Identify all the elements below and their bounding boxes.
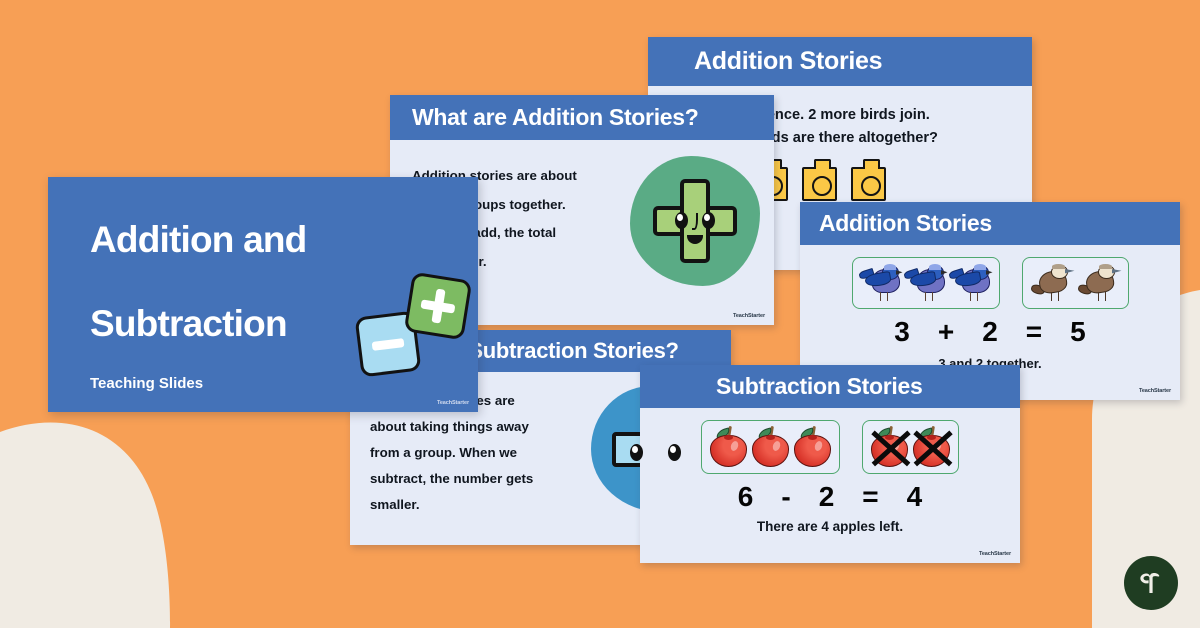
watermark: TeachStarter xyxy=(437,400,469,406)
group-box-addend-2 xyxy=(1022,257,1129,309)
apple-crossed-out-icon xyxy=(869,426,910,468)
cap xyxy=(884,264,896,270)
apple-crossed-out-icon xyxy=(911,426,952,468)
cap xyxy=(929,264,941,270)
body-line: subtract, the number gets xyxy=(370,466,587,492)
counter-icon xyxy=(851,167,886,201)
slide-header-bar: What are Addition Stories? xyxy=(390,95,774,140)
body-line: smaller. xyxy=(370,492,587,518)
equation-row: 6 - 2 = 4 xyxy=(640,481,1020,513)
slide-heading: Addition Stories xyxy=(694,47,882,76)
equation-row: 3 + 2 = 5 xyxy=(800,316,1180,348)
watermark: TeachStarter xyxy=(1139,388,1171,394)
slide-header-bar: Addition Stories xyxy=(800,202,1180,245)
slide-title-cover[interactable]: Addition and Subtraction Teaching Slides… xyxy=(48,177,478,412)
slide-header-bar: Addition Stories xyxy=(648,37,1032,86)
bluebird-icon xyxy=(949,263,993,303)
equation-term: 2 xyxy=(982,316,998,348)
slide-header-bar: Subtraction Stories xyxy=(640,365,1020,408)
beak xyxy=(896,270,903,275)
kookaburra-icon xyxy=(1076,263,1122,303)
bird-groups xyxy=(800,257,1180,309)
group-box-remaining xyxy=(701,420,840,474)
slide-subtraction-stories-apples[interactable]: Subtraction Stories xyxy=(640,365,1020,563)
equation-result: 4 xyxy=(907,481,923,513)
right-eye-icon xyxy=(668,444,681,461)
apple-icon xyxy=(708,426,749,468)
slide-heading: What are Addition Stories? xyxy=(412,104,699,131)
dimple xyxy=(927,435,936,440)
apple-icon xyxy=(792,426,833,468)
dimple xyxy=(808,435,817,440)
crown xyxy=(1099,264,1112,269)
equation-operator: + xyxy=(938,316,954,348)
minus-bar xyxy=(372,338,405,351)
teach-starter-mark-icon xyxy=(1136,568,1166,598)
apple-icon xyxy=(750,426,791,468)
equation-term: 6 xyxy=(738,481,754,513)
legs xyxy=(923,292,937,301)
right-eye-icon xyxy=(702,212,715,229)
left-eye-icon xyxy=(675,212,688,229)
watermark: TeachStarter xyxy=(733,313,765,319)
slide-heading: Addition Stories xyxy=(819,210,992,237)
bluebird-icon xyxy=(859,263,903,303)
legs xyxy=(878,292,892,301)
equation-operator: - xyxy=(781,481,790,513)
equation-equals: = xyxy=(862,481,878,513)
plus-mascot-icon xyxy=(653,179,737,263)
beak xyxy=(986,270,993,275)
legs xyxy=(1096,292,1109,301)
body-line: from a group. When we xyxy=(370,440,587,466)
operator-card-stack xyxy=(358,270,470,400)
equation-result: 5 xyxy=(1070,316,1086,348)
title-line-1: Addition and xyxy=(90,219,478,261)
slide-caption: There are 4 apples left. xyxy=(640,519,1020,534)
equation-term: 3 xyxy=(894,316,910,348)
dimple xyxy=(766,435,775,440)
body-line: about taking things away xyxy=(370,414,587,440)
beak xyxy=(1065,269,1075,274)
watermark: TeachStarter xyxy=(979,551,1011,557)
teach-starter-logo[interactable] xyxy=(1124,556,1178,610)
legs xyxy=(968,292,982,301)
equation-equals: = xyxy=(1026,316,1042,348)
beak xyxy=(941,270,948,275)
counter-icon xyxy=(802,167,837,201)
beak xyxy=(1112,269,1122,274)
left-eye-icon xyxy=(630,444,643,461)
dimple xyxy=(724,435,733,440)
apple-groups xyxy=(640,420,1020,474)
slide-heading: Subtraction Stories xyxy=(716,373,922,400)
kookaburra-icon xyxy=(1029,263,1075,303)
legs xyxy=(1049,292,1062,301)
bluebird-icon xyxy=(904,263,948,303)
plus-card-icon xyxy=(404,272,473,341)
cap xyxy=(974,264,986,270)
dimple xyxy=(885,435,894,440)
group-box-subtracted xyxy=(862,420,959,474)
crown xyxy=(1052,264,1065,269)
group-box-addend-1 xyxy=(852,257,1000,309)
plus-mascot-blob xyxy=(630,156,760,286)
equation-term: 2 xyxy=(819,481,835,513)
